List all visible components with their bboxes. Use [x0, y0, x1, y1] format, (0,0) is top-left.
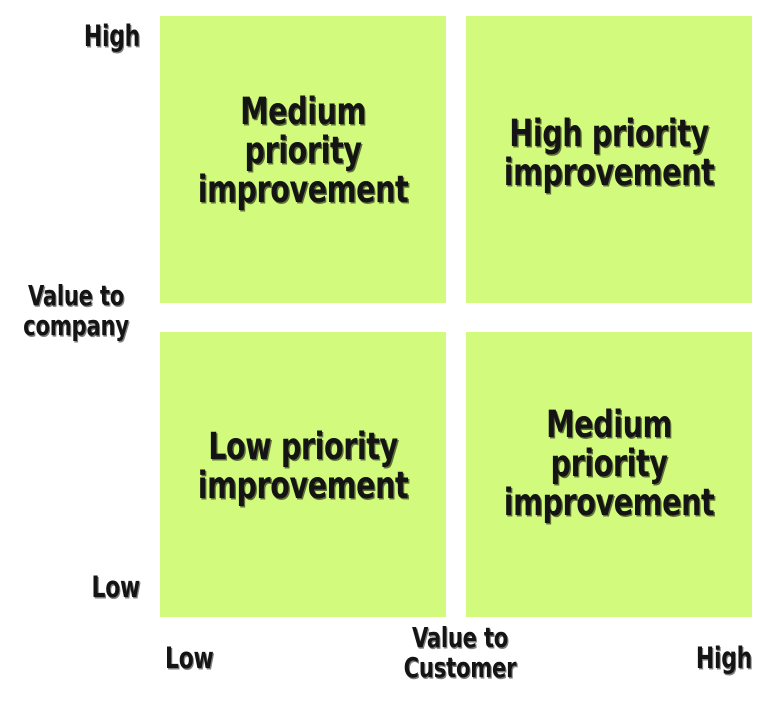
x-axis-low-label: Low	[165, 643, 266, 674]
quadrant-bottom-left-label: Low priority improvement	[180, 427, 426, 505]
quadrant-top-right[interactable]: High priority improvement	[466, 16, 752, 303]
y-axis-title: Value to company	[12, 281, 140, 341]
x-axis-title: Value to Customer	[393, 623, 527, 683]
quadrant-top-right-label: High priority improvement	[486, 114, 732, 192]
quadrant-bottom-right-label: Medium priority improvement	[486, 405, 732, 523]
quadrant-bottom-right[interactable]: Medium priority improvement	[466, 332, 752, 617]
quadrant-bottom-left[interactable]: Low priority improvement	[160, 332, 446, 617]
priority-matrix-diagram: High Value to company Low Medium priorit…	[0, 0, 768, 708]
y-axis-low-label: Low	[39, 572, 140, 603]
quadrant-top-left[interactable]: Medium priority improvement	[160, 16, 446, 303]
quadrant-top-left-label: Medium priority improvement	[180, 92, 426, 210]
x-axis-high-label: High	[651, 643, 752, 674]
y-axis-high-label: High	[39, 21, 140, 52]
